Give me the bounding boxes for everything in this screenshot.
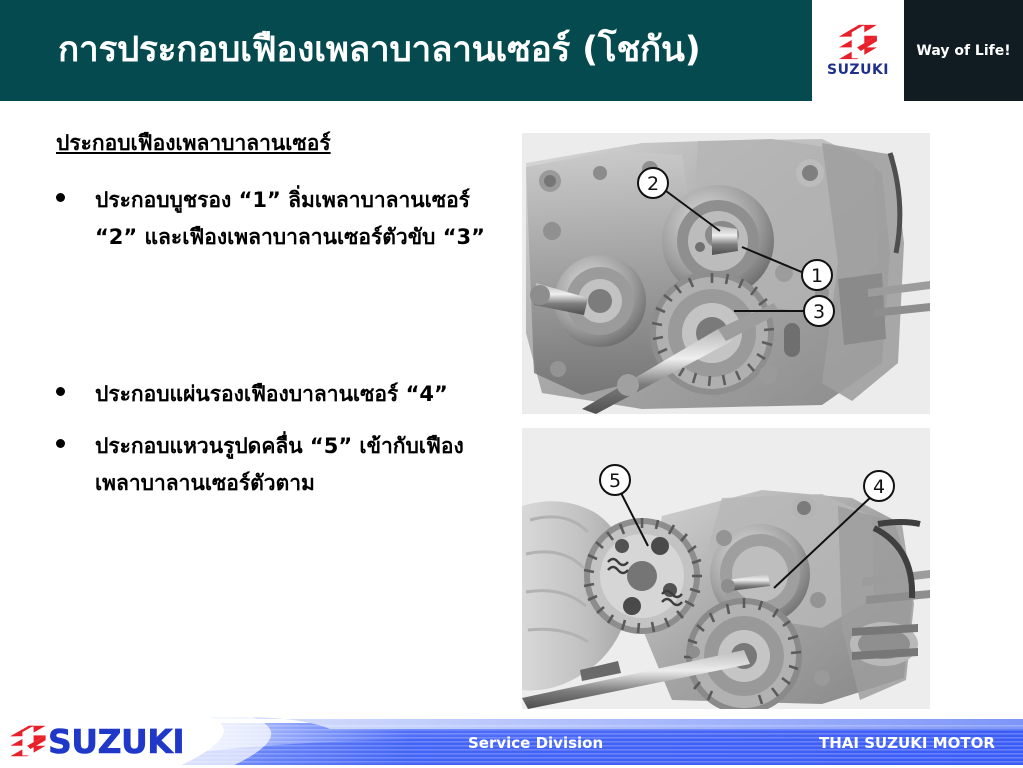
svg-text:5: 5: [609, 470, 621, 492]
bullet-text: ประกอบบูชรอง “1” ลิ่มเพลาบาลานเซอร์ “2” …: [95, 182, 526, 256]
tagline-text: Way of Life!: [916, 43, 1010, 59]
engine-photo-bottom: 5 4: [522, 428, 930, 709]
bullet-dot-icon: [56, 439, 65, 448]
svg-text:4: 4: [873, 476, 885, 498]
bullet-dot-icon: [56, 193, 65, 202]
engine-photo-top-graphic: 2 1 3: [522, 133, 930, 414]
bullet-text: ประกอบแผ่นรองเฟืองบาลานเซอร์ “4”: [95, 376, 526, 413]
suzuki-brand-logo: SUZUKI: [812, 0, 904, 101]
bullet-line-2: เพลาบาลานเซอร์ตัวตาม: [95, 471, 315, 495]
bullet-group-two: ประกอบแผ่นรองเฟืองบาลานเซอร์ “4” ประกอบแ…: [56, 376, 526, 502]
bullet-line-1: ประกอบแผ่นรองเฟืองบาลานเซอร์ “4”: [95, 382, 448, 406]
slide-header: การประกอบเฟืองเพลาบาลานเซอร์ (โชกัน) SUZ…: [0, 0, 1023, 101]
list-item: ประกอบบูชรอง “1” ลิ่มเพลาบาลานเซอร์ “2” …: [56, 182, 526, 256]
bullet-group-one: ประกอบบูชรอง “1” ลิ่มเพลาบาลานเซอร์ “2” …: [56, 182, 526, 256]
slide-footer: SUZUKI Service Division THAI SUZUKI MOTO…: [0, 717, 1023, 768]
bullet-text: ประกอบแหวนรูปดคลื่น “5” เข้ากับเฟือง เพล…: [95, 428, 526, 502]
footer-right-label: THAI SUZUKI MOTOR: [819, 734, 995, 752]
svg-text:2: 2: [647, 173, 659, 195]
engine-photo-bottom-graphic: 5 4: [522, 428, 930, 709]
suzuki-s-icon: [835, 24, 881, 60]
footer-center-label: Service Division: [468, 734, 603, 752]
suzuki-wordmark: SUZUKI: [48, 725, 184, 758]
bullet-line-1: ประกอบแหวนรูปดคลื่น “5” เข้ากับเฟือง: [95, 434, 464, 458]
bullet-dot-icon: [56, 387, 65, 396]
list-item: ประกอบแหวนรูปดคลื่น “5” เข้ากับเฟือง เพล…: [56, 428, 526, 502]
tagline-container: Way of Life!: [904, 0, 1023, 101]
header-title-container: การประกอบเฟืองเพลาบาลานเซอร์ (โชกัน): [0, 0, 812, 101]
engine-photo-top: 2 1 3: [522, 133, 930, 414]
bullet-line-2: “2” และเฟืองเพลาบาลานเซอร์ตัวขับ “3”: [95, 225, 485, 249]
text-column: ประกอบเฟืองเพลาบาลานเซอร์ ประกอบบูชรอง “…: [56, 131, 526, 518]
slide-body: ประกอบเฟืองเพลาบาลานเซอร์ ประกอบบูชรอง “…: [0, 101, 1023, 717]
suzuki-wordmark: SUZUKI: [827, 62, 889, 78]
svg-text:3: 3: [813, 301, 825, 323]
footer-suzuki-logo: SUZUKI: [8, 724, 184, 758]
suzuki-s-icon: [8, 724, 48, 758]
section-heading: ประกอบเฟืองเพลาบาลานเซอร์: [56, 131, 526, 156]
bullet-line-1: ประกอบบูชรอง “1” ลิ่มเพลาบาลานเซอร์: [95, 188, 470, 212]
vertical-spacer: [56, 264, 526, 376]
page-title: การประกอบเฟืองเพลาบาลานเซอร์ (โชกัน): [58, 31, 701, 70]
list-item: ประกอบแผ่นรองเฟืองบาลานเซอร์ “4”: [56, 376, 526, 413]
svg-text:1: 1: [811, 265, 823, 287]
